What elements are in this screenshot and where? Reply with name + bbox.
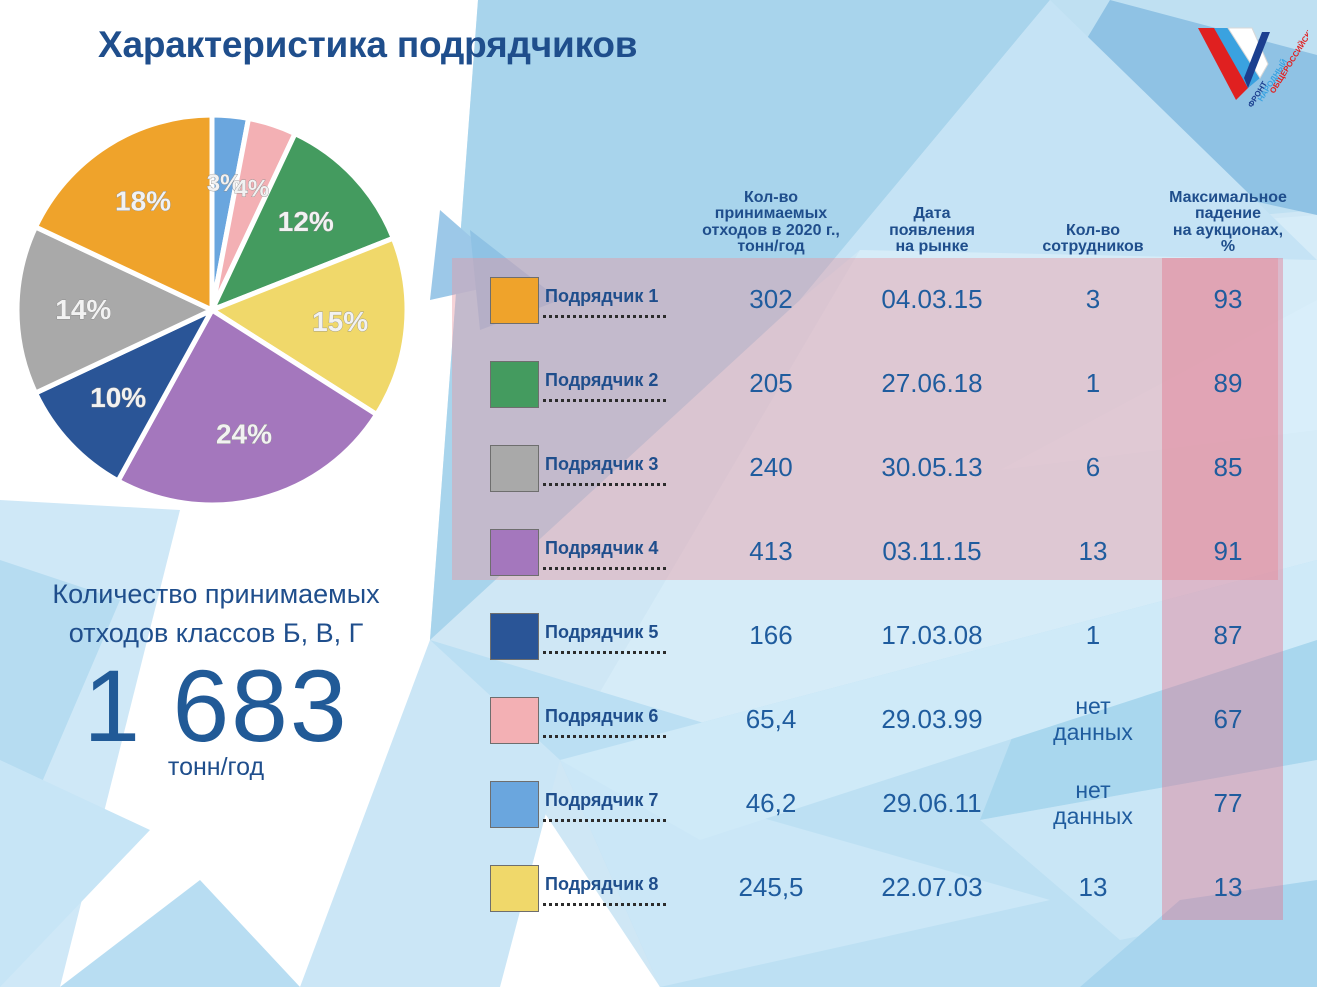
cell-waste-volume-value: 46,2 xyxy=(696,789,846,818)
contractor-name: Подрядчик 3 xyxy=(545,454,658,475)
cell-waste-volume: 240 xyxy=(696,453,846,482)
cell-max-drop: 91 xyxy=(1168,537,1288,566)
cell-waste-volume: 302 xyxy=(696,285,846,314)
legend-color-swatch xyxy=(490,529,539,576)
cell-waste-volume: 413 xyxy=(696,537,846,566)
cell-max-drop-value: 85 xyxy=(1168,453,1288,482)
dotted-underline xyxy=(543,735,666,738)
dotted-underline xyxy=(543,651,666,654)
legend-color-swatch xyxy=(490,697,539,744)
contractor-name: Подрядчик 5 xyxy=(545,622,658,643)
table-row: Подрядчик 441303.11.151391 xyxy=(452,510,1288,594)
cell-waste-volume-value: 302 xyxy=(696,285,846,314)
cell-waste-volume: 46,2 xyxy=(696,789,846,818)
contractor-name: Подрядчик 8 xyxy=(545,874,658,895)
cell-staff-count: 3 xyxy=(1018,285,1168,314)
legend-color-swatch xyxy=(490,445,539,492)
cell-max-drop: 93 xyxy=(1168,285,1288,314)
cell-waste-volume: 65,4 xyxy=(696,705,846,734)
contractor-name: Подрядчик 1 xyxy=(545,286,658,307)
legend-color-swatch xyxy=(490,865,539,912)
cell-contractor: Подрядчик 8 xyxy=(452,865,696,912)
cell-staff-count-value: 13 xyxy=(1018,873,1168,902)
legend-color-swatch xyxy=(490,781,539,828)
dotted-underline xyxy=(543,399,666,402)
cell-waste-volume-value: 245,5 xyxy=(696,873,846,902)
cell-staff-count-value: 13 xyxy=(1018,537,1168,566)
cell-max-drop-value: 13 xyxy=(1168,873,1288,902)
cell-waste-volume: 205 xyxy=(696,369,846,398)
cell-max-drop-value: 67 xyxy=(1168,705,1288,734)
infographic-canvas: ОБЩЕРОССИЙСКИЙ НАРОДНЫЙ ФРОНТ Характерис… xyxy=(0,0,1317,987)
cell-waste-volume: 245,5 xyxy=(696,873,846,902)
pie-slice-label: 15% xyxy=(312,306,368,337)
cell-market-date: 17.03.08 xyxy=(846,621,1018,650)
cell-market-date-value: 29.06.11 xyxy=(846,789,1018,818)
table-row: Подрядчик 8245,522.07.031313 xyxy=(452,846,1288,930)
table-row: Подрядчик 324030.05.13685 xyxy=(452,426,1288,510)
cell-staff-count-value: 3 xyxy=(1018,285,1168,314)
pie-slice-label: 18% xyxy=(115,185,171,216)
dotted-underline xyxy=(543,567,666,570)
pie-chart-svg: 3%4%12%15%24%10%14%18% xyxy=(10,108,414,512)
cell-waste-volume-value: 65,4 xyxy=(696,705,846,734)
cell-market-date-value: 30.05.13 xyxy=(846,453,1018,482)
cell-staff-count: 6 xyxy=(1018,453,1168,482)
contractor-name: Подрядчик 7 xyxy=(545,790,658,811)
cell-market-date: 22.07.03 xyxy=(846,873,1018,902)
cell-max-drop: 13 xyxy=(1168,873,1288,902)
cell-staff-count-value: нет данных xyxy=(1018,694,1168,746)
cell-staff-count: 1 xyxy=(1018,369,1168,398)
dotted-underline xyxy=(543,315,666,318)
cell-max-drop: 85 xyxy=(1168,453,1288,482)
cell-contractor: Подрядчик 3 xyxy=(452,445,696,492)
pie-slice-label: 10% xyxy=(90,382,146,413)
cell-staff-count: 13 xyxy=(1018,873,1168,902)
dotted-underline xyxy=(543,819,666,822)
cell-market-date: 30.05.13 xyxy=(846,453,1018,482)
contractor-name: Подрядчик 6 xyxy=(545,706,658,727)
cell-max-drop: 77 xyxy=(1168,789,1288,818)
dotted-underline xyxy=(543,903,666,906)
cell-market-date: 04.03.15 xyxy=(846,285,1018,314)
cell-max-drop: 89 xyxy=(1168,369,1288,398)
cell-max-drop-value: 77 xyxy=(1168,789,1288,818)
cell-staff-count-value: нет данных xyxy=(1018,778,1168,830)
cell-staff-count: 1 xyxy=(1018,621,1168,650)
cell-contractor: Подрядчик 6 xyxy=(452,697,696,744)
table-row: Подрядчик 220527.06.18189 xyxy=(452,342,1288,426)
summary-line-2: отходов классов Б, В, Г xyxy=(6,614,426,653)
cell-max-drop-value: 93 xyxy=(1168,285,1288,314)
cell-market-date-value: 22.07.03 xyxy=(846,873,1018,902)
cell-market-date-value: 03.11.15 xyxy=(846,537,1018,566)
summary-total-value: 1 683 xyxy=(6,657,426,757)
contractor-name: Подрядчик 4 xyxy=(545,538,658,559)
cell-market-date-value: 17.03.08 xyxy=(846,621,1018,650)
legend-color-swatch xyxy=(490,277,539,324)
th-staff-count: Кол-восотрудников xyxy=(1018,223,1168,258)
contractors-table: Кол-вопринимаемыхотходов в 2020 г.,тонн/… xyxy=(452,190,1288,930)
cell-market-date: 29.06.11 xyxy=(846,789,1018,818)
th-contractor xyxy=(452,256,696,258)
cell-staff-count: 13 xyxy=(1018,537,1168,566)
cell-max-drop-value: 91 xyxy=(1168,537,1288,566)
th-market-date: Датапоявленияна рынке xyxy=(846,206,1018,258)
cell-waste-volume-value: 413 xyxy=(696,537,846,566)
cell-market-date-value: 04.03.15 xyxy=(846,285,1018,314)
cell-max-drop: 67 xyxy=(1168,705,1288,734)
table-row: Подрядчик 665,429.03.99нет данных67 xyxy=(452,678,1288,762)
pie-slice-label: 24% xyxy=(216,419,272,450)
contractor-name: Подрядчик 2 xyxy=(545,370,658,391)
dotted-underline xyxy=(543,483,666,486)
cell-waste-volume: 166 xyxy=(696,621,846,650)
cell-contractor: Подрядчик 1 xyxy=(452,277,696,324)
cell-staff-count: нет данных xyxy=(1018,694,1168,746)
cell-contractor: Подрядчик 5 xyxy=(452,613,696,660)
cell-contractor: Подрядчик 2 xyxy=(452,361,696,408)
th-waste-volume: Кол-вопринимаемыхотходов в 2020 г.,тонн/… xyxy=(696,190,846,259)
onf-logo: ОБЩЕРОССИЙСКИЙ НАРОДНЫЙ ФРОНТ xyxy=(1178,6,1308,116)
pie-slice-label: 4% xyxy=(234,176,269,203)
cell-max-drop: 87 xyxy=(1168,621,1288,650)
cell-staff-count-value: 6 xyxy=(1018,453,1168,482)
cell-market-date-value: 27.06.18 xyxy=(846,369,1018,398)
summary-unit: тонн/год xyxy=(6,753,426,782)
cell-market-date-value: 29.03.99 xyxy=(846,705,1018,734)
cell-max-drop-value: 89 xyxy=(1168,369,1288,398)
legend-color-swatch xyxy=(490,361,539,408)
legend-color-swatch xyxy=(490,613,539,660)
table-body: Подрядчик 130204.03.15393Подрядчик 22052… xyxy=(452,258,1288,930)
pie-slice-label: 14% xyxy=(55,294,111,325)
summary-line-1: Количество принимаемых xyxy=(6,575,426,614)
summary-block: Количество принимаемых отходов классов Б… xyxy=(6,575,426,782)
cell-staff-count: нет данных xyxy=(1018,778,1168,830)
th-max-drop: Максимальноепадениена аукционах, % xyxy=(1168,190,1288,259)
cell-max-drop-value: 87 xyxy=(1168,621,1288,650)
pie-chart: 3%4%12%15%24%10%14%18% xyxy=(10,108,414,512)
cell-market-date: 27.06.18 xyxy=(846,369,1018,398)
cell-staff-count-value: 1 xyxy=(1018,621,1168,650)
cell-waste-volume-value: 166 xyxy=(696,621,846,650)
table-row: Подрядчик 746,229.06.11нет данных77 xyxy=(452,762,1288,846)
cell-waste-volume-value: 205 xyxy=(696,369,846,398)
table-header-row: Кол-вопринимаемыхотходов в 2020 г.,тонн/… xyxy=(452,190,1288,258)
cell-waste-volume-value: 240 xyxy=(696,453,846,482)
cell-market-date: 29.03.99 xyxy=(846,705,1018,734)
table-row: Подрядчик 516617.03.08187 xyxy=(452,594,1288,678)
cell-market-date: 03.11.15 xyxy=(846,537,1018,566)
cell-contractor: Подрядчик 7 xyxy=(452,781,696,828)
cell-contractor: Подрядчик 4 xyxy=(452,529,696,576)
page-title: Характеристика подрядчиков xyxy=(98,24,637,66)
table-row: Подрядчик 130204.03.15393 xyxy=(452,258,1288,342)
cell-staff-count-value: 1 xyxy=(1018,369,1168,398)
pie-slice-label: 12% xyxy=(278,206,334,237)
